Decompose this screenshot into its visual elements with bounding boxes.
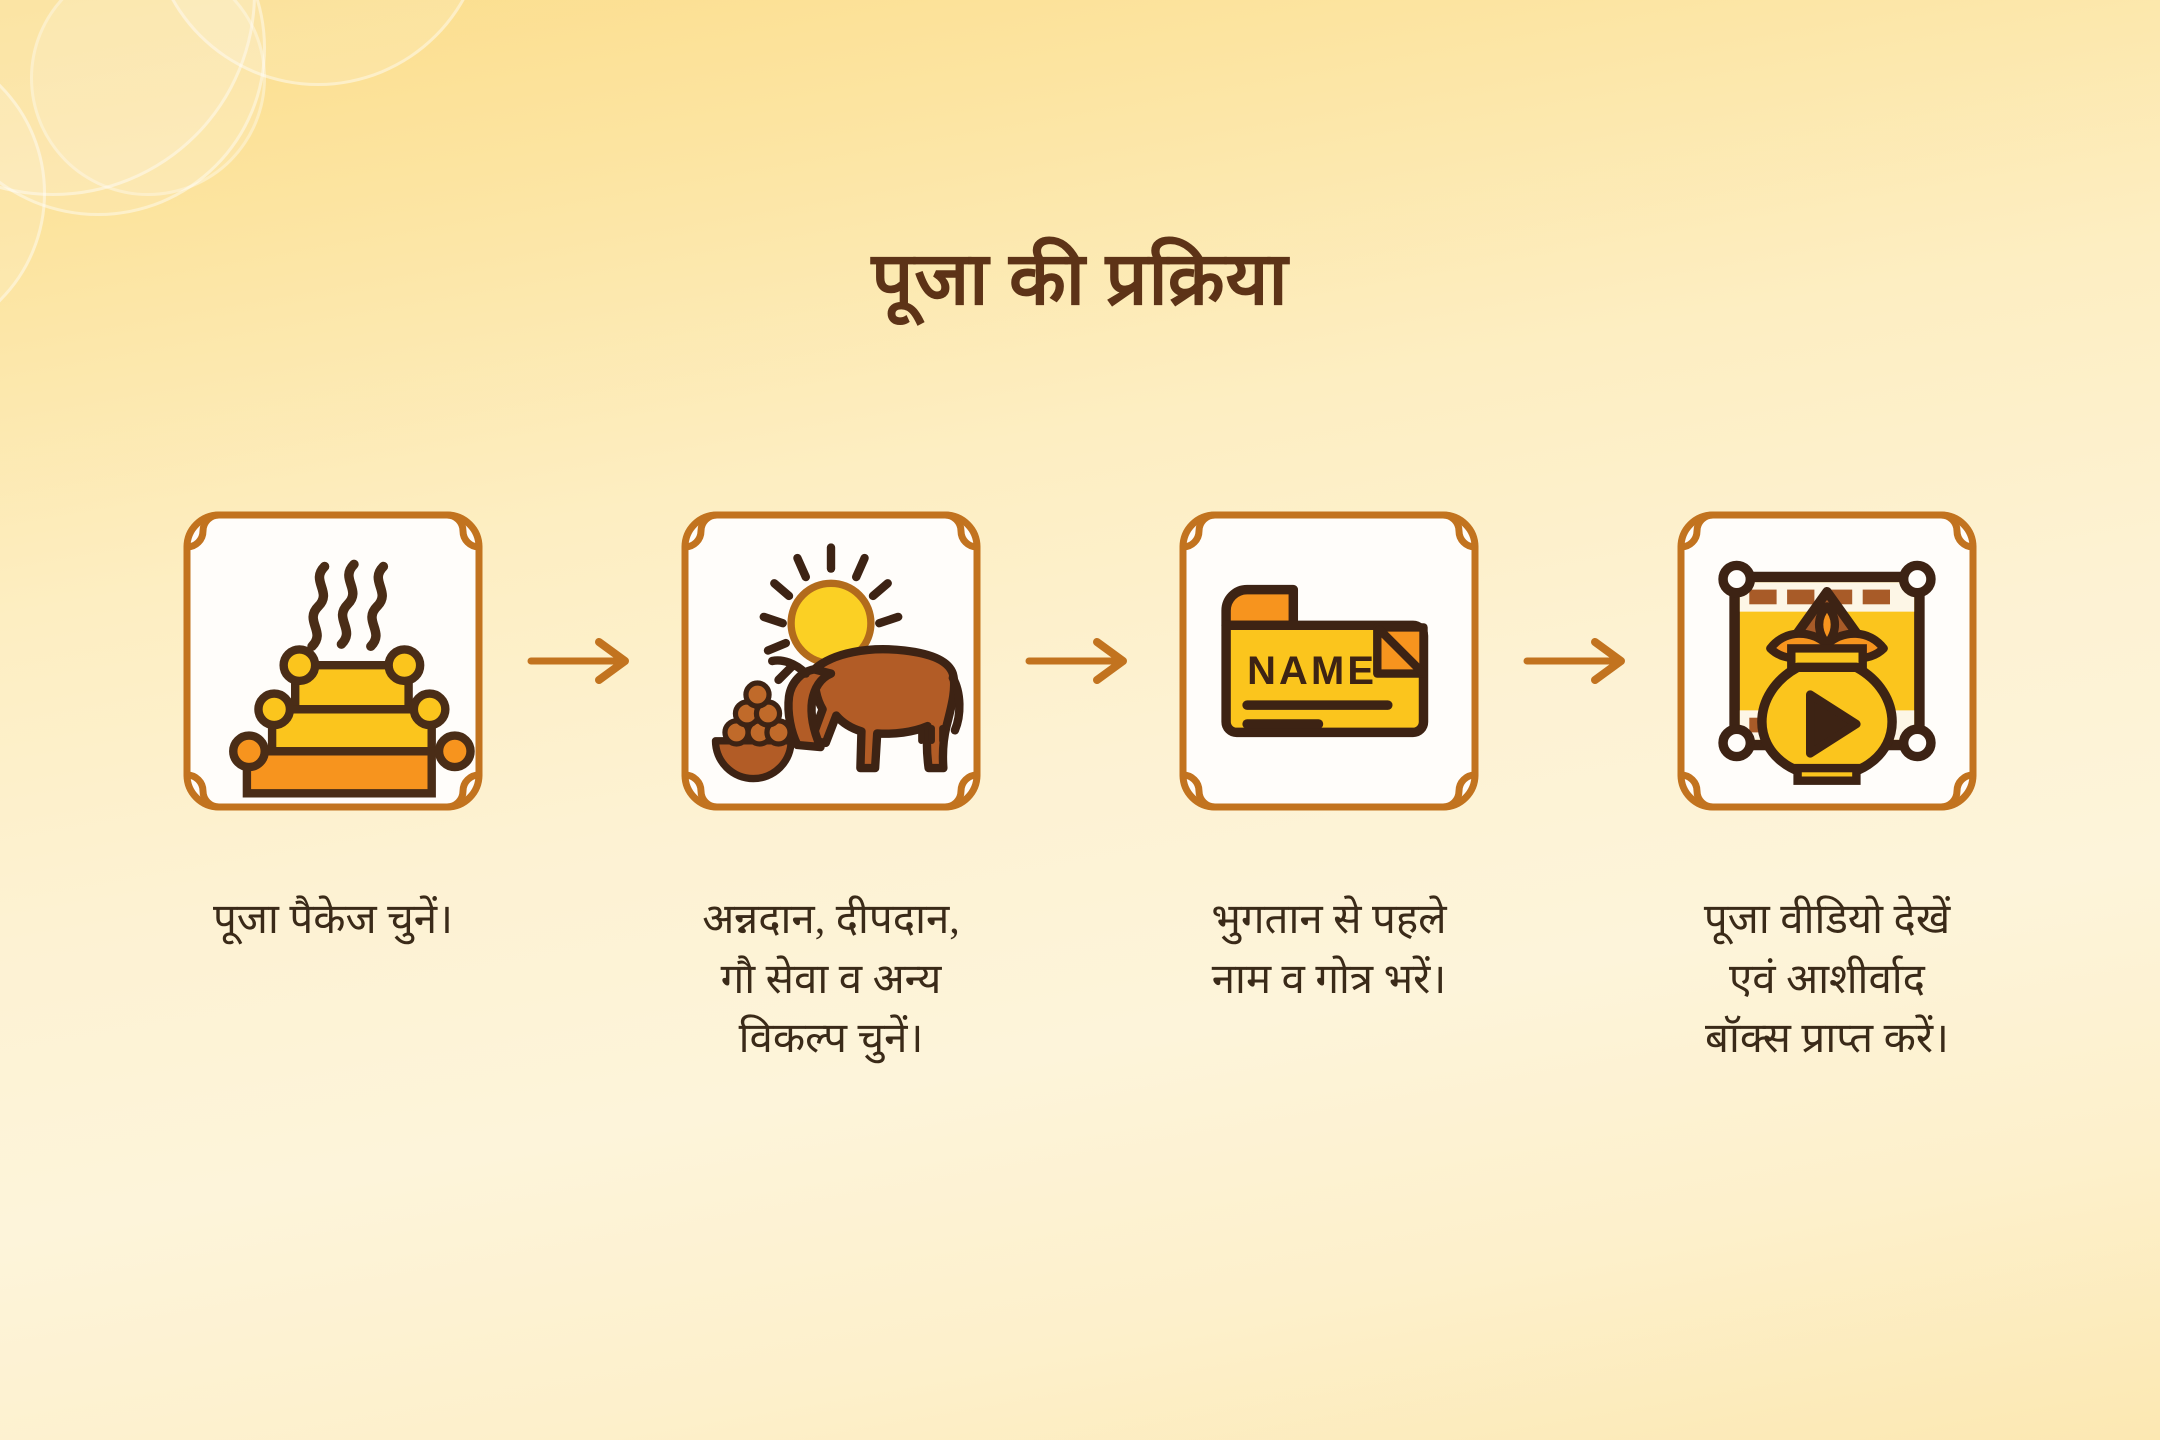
process-step-3: NAME भुगतान से पहले नाम व गोत्र भरें।	[1145, 485, 1513, 1010]
caption-line: बॉक्स प्राप्त करें।	[1647, 1010, 2007, 1070]
caption-line: अन्नदान, दीपदान,	[651, 891, 1011, 951]
caption-line: विकल्प चुनें।	[651, 1010, 1011, 1070]
step-caption-3: भुगतान से पहले नाम व गोत्र भरें।	[1149, 891, 1509, 1010]
step-card-2[interactable]	[655, 485, 1007, 837]
infographic-page: पूजा की प्रक्रिया	[0, 0, 2160, 1440]
background-circle-decoration	[0, 0, 256, 196]
step-card-3[interactable]: NAME	[1153, 485, 1505, 837]
step-card-4[interactable]	[1651, 485, 2003, 837]
step-card-1[interactable]	[157, 485, 509, 837]
background-circle-decoration	[150, 0, 486, 86]
step-caption-4: पूजा वीडियो देखें एवं आशीर्वाद बॉक्स प्र…	[1647, 891, 2007, 1070]
caption-line: पूजा वीडियो देखें	[1647, 891, 2007, 951]
process-step-2: अन्नदान, दीपदान, गौ सेवा व अन्य विकल्प च…	[647, 485, 1015, 1070]
caption-line: गौ सेवा व अन्य	[651, 951, 1011, 1011]
process-step-4: पूजा वीडियो देखें एवं आशीर्वाद बॉक्स प्र…	[1643, 485, 2011, 1070]
caption-line: नाम व गोत्र भरें।	[1149, 951, 1509, 1011]
arrow-2-to-3	[1015, 485, 1145, 837]
caption-line: एवं आशीर्वाद	[1647, 951, 2007, 1011]
background-circle-decoration	[30, 0, 266, 196]
page-title: पूजा की प्रक्रिया	[0, 240, 2160, 321]
cow-seva-icon	[705, 535, 957, 787]
step-caption-2: अन्नदान, दीपदान, गौ सेवा व अन्य विकल्प च…	[651, 891, 1011, 1070]
name-field-label: NAME	[1247, 649, 1377, 693]
havan-kund-icon	[207, 535, 459, 787]
process-step-1: पूजा पैकेज चुनें।	[149, 485, 517, 951]
background-circle-decoration	[0, 0, 266, 216]
puja-video-kalash-icon	[1701, 535, 1953, 787]
process-steps-row: पूजा पैकेज चुनें।	[0, 485, 2160, 1070]
caption-line: पूजा पैकेज चुनें।	[153, 891, 513, 951]
name-form-icon: NAME	[1203, 535, 1455, 787]
step-caption-1: पूजा पैकेज चुनें।	[153, 891, 513, 951]
arrow-3-to-4	[1513, 485, 1643, 837]
arrow-1-to-2	[517, 485, 647, 837]
caption-line: भुगतान से पहले	[1149, 891, 1509, 951]
